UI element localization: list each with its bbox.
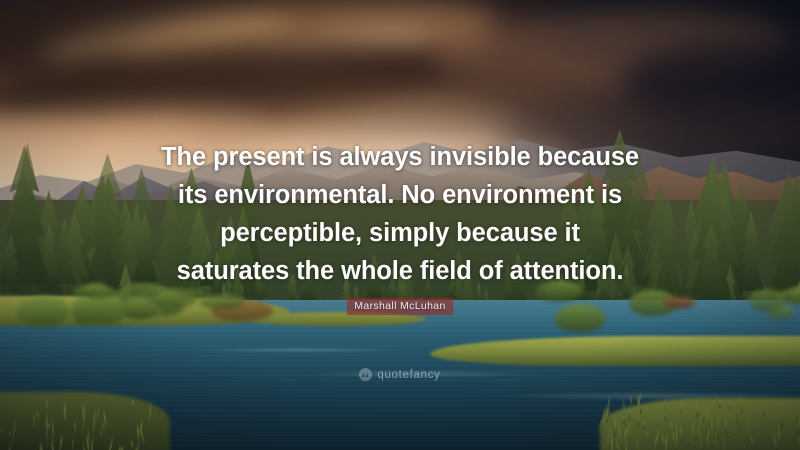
quote-block: The present is always invisible because … xyxy=(100,138,700,290)
reed xyxy=(131,398,133,407)
reed xyxy=(39,446,41,450)
attribution-wrap: Marshall McLuhan xyxy=(0,296,800,315)
reed xyxy=(762,402,764,414)
quote-author: Marshall McLuhan xyxy=(347,298,452,315)
reed xyxy=(130,439,133,449)
reed xyxy=(679,423,681,442)
quote-image-canvas: The present is always invisible because … xyxy=(0,0,800,450)
reed xyxy=(796,406,798,420)
reed xyxy=(733,427,735,435)
reed xyxy=(74,421,76,433)
reed xyxy=(629,394,631,406)
quote-text: The present is always invisible because … xyxy=(100,138,700,290)
